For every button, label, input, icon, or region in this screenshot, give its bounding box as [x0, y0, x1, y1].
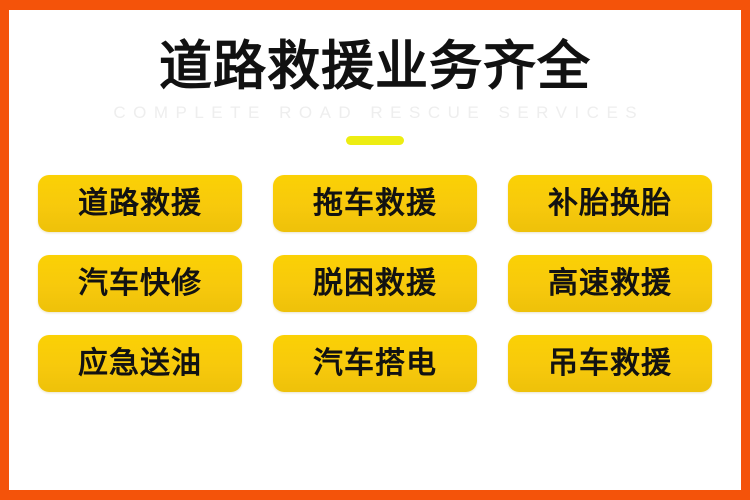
service-button-label: 脱困救援	[313, 269, 437, 299]
service-button-tire-repair-replacement[interactable]: 补胎换胎	[508, 175, 712, 232]
service-button-highway-rescue[interactable]: 高速救援	[508, 255, 712, 312]
service-button-label: 汽车快修	[78, 269, 202, 299]
poster-root: 道路救援业务齐全 COMPLETE ROAD RESCUE SERVICES 道…	[0, 0, 750, 500]
frame-bar-top	[0, 0, 750, 10]
service-button-quick-car-repair[interactable]: 汽车快修	[38, 255, 242, 312]
service-button-label: 补胎换胎	[548, 189, 672, 219]
service-button-crane-rescue[interactable]: 吊车救援	[508, 335, 712, 392]
service-button-label: 拖车救援	[313, 189, 437, 219]
service-button-label: 汽车搭电	[313, 349, 437, 379]
page-title: 道路救援业务齐全	[0, 38, 750, 96]
service-button-label: 吊车救援	[548, 349, 672, 379]
service-button-extrication-rescue[interactable]: 脱困救援	[273, 255, 477, 312]
frame-bar-bottom	[0, 490, 750, 500]
frame-bar-left	[0, 0, 9, 500]
service-button-jump-start[interactable]: 汽车搭电	[273, 335, 477, 392]
service-button-label: 道路救援	[78, 189, 202, 219]
frame-bar-right	[741, 0, 750, 500]
service-button-grid: 道路救援 拖车救援 补胎换胎 汽车快修 脱困救援 高速救援 应急送油 汽车搭电 …	[38, 175, 712, 392]
service-button-road-rescue[interactable]: 道路救援	[38, 175, 242, 232]
service-button-towing-rescue[interactable]: 拖车救援	[273, 175, 477, 232]
accent-divider	[346, 136, 404, 145]
service-button-label: 高速救援	[548, 269, 672, 299]
service-button-emergency-fuel-delivery[interactable]: 应急送油	[38, 335, 242, 392]
header: 道路救援业务齐全 COMPLETE ROAD RESCUE SERVICES	[0, 0, 750, 145]
service-button-label: 应急送油	[78, 349, 202, 379]
page-subtitle: COMPLETE ROAD RESCUE SERVICES	[0, 102, 750, 124]
